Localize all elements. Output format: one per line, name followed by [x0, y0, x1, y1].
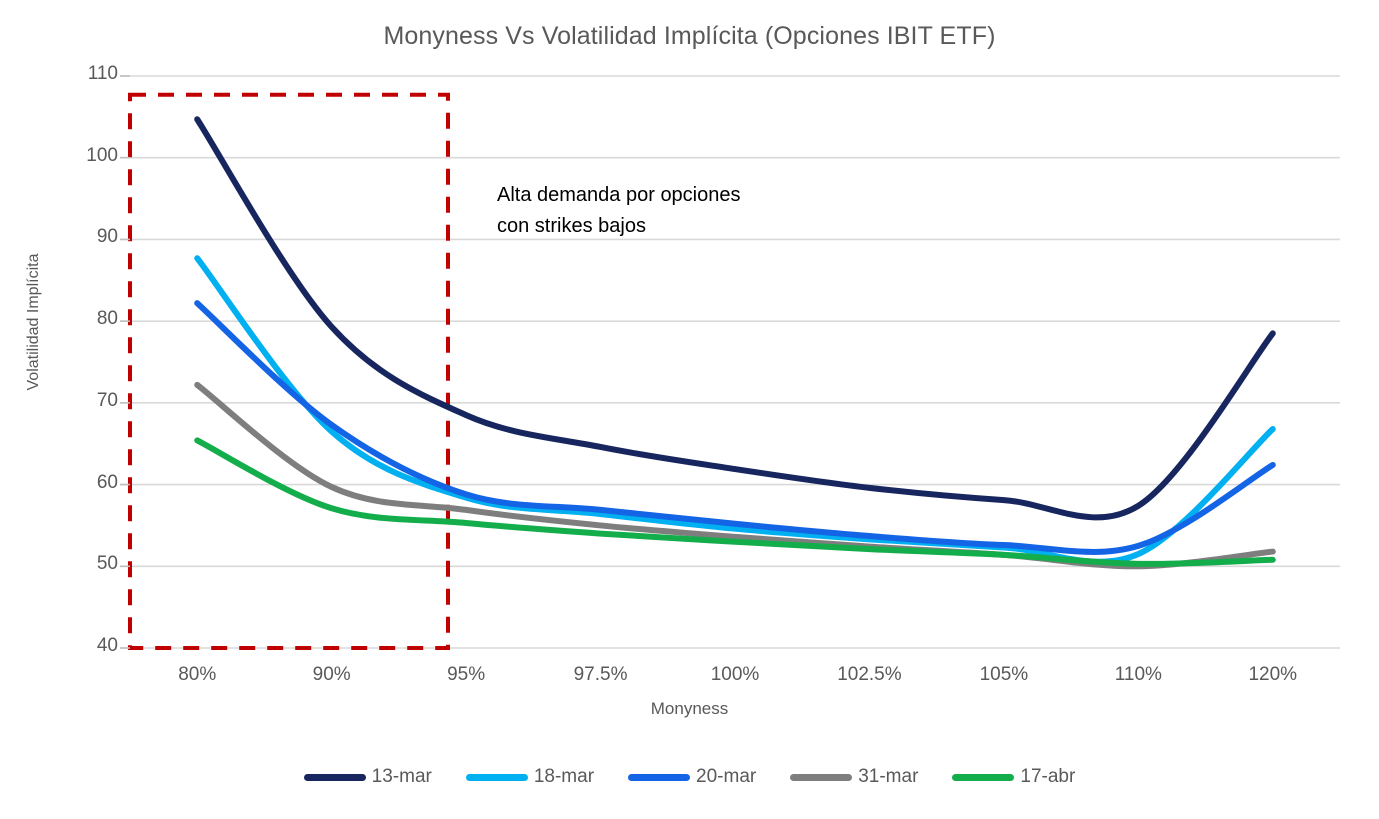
legend-swatch [952, 774, 1014, 781]
legend-label: 13-mar [372, 766, 432, 788]
legend-item-18-mar[interactable]: 18-mar [466, 766, 594, 788]
legend-label: 31-mar [858, 766, 918, 788]
legend-label: 18-mar [534, 766, 594, 788]
legend-swatch [628, 774, 690, 781]
legend-swatch [466, 774, 528, 781]
legend-label: 20-mar [696, 766, 756, 788]
chart-legend: 13-mar18-mar20-mar31-mar17-abr [0, 766, 1379, 788]
plot-area [0, 0, 1379, 819]
annotation-line-2: con strikes bajos [497, 211, 837, 242]
annotation-text: Alta demanda por opciones con strikes ba… [497, 180, 837, 242]
legend-item-20-mar[interactable]: 20-mar [628, 766, 756, 788]
legend-item-13-mar[interactable]: 13-mar [304, 766, 432, 788]
legend-swatch [304, 774, 366, 781]
annotation-line-1: Alta demanda por opciones [497, 180, 837, 211]
series-line-17-abr [197, 440, 1273, 563]
legend-item-31-mar[interactable]: 31-mar [790, 766, 918, 788]
legend-label: 17-abr [1020, 766, 1075, 788]
chart-container: Monyness Vs Volatilidad Implícita (Opcio… [0, 0, 1379, 819]
highlight-box [130, 95, 448, 648]
legend-swatch [790, 774, 852, 781]
legend-item-17-abr[interactable]: 17-abr [952, 766, 1075, 788]
